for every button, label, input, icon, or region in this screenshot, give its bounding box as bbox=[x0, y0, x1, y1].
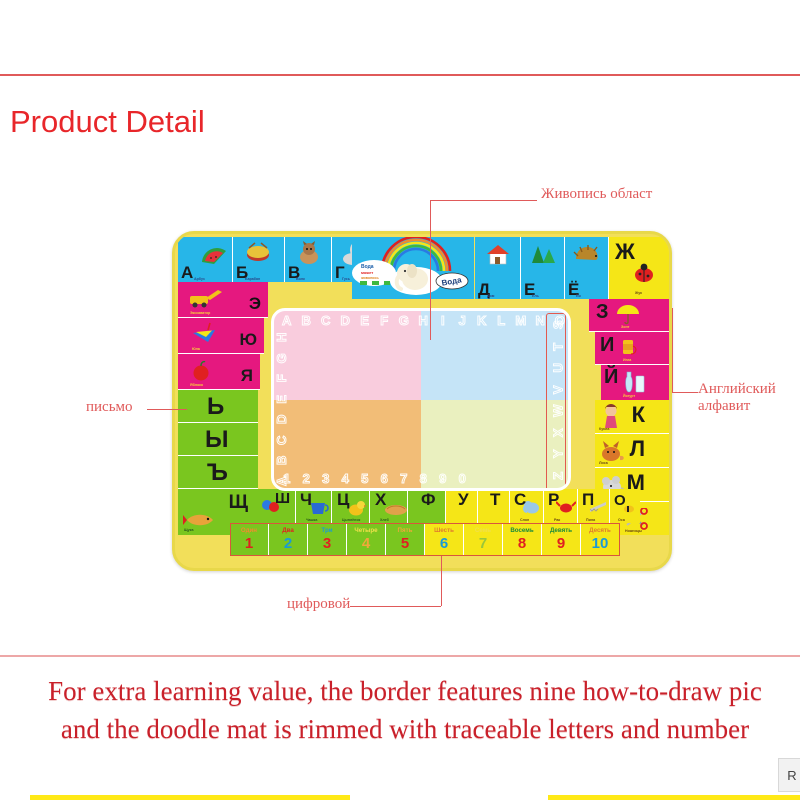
mat-letter: К bbox=[629, 404, 647, 427]
mat-cell-right-0: З Зонт bbox=[589, 299, 669, 332]
number-word: Два bbox=[282, 528, 294, 534]
mat-letter: О bbox=[611, 493, 628, 509]
mat-letter: Ю bbox=[236, 331, 259, 349]
trace-left-3: E bbox=[272, 394, 293, 404]
number-digit: 4 bbox=[362, 536, 370, 551]
mat-cell-bottom-6: Т bbox=[478, 489, 510, 523]
fir-tree-icon bbox=[529, 242, 557, 266]
mat-letter: Ж bbox=[609, 241, 637, 264]
number-word: Восемь bbox=[510, 528, 533, 534]
rainbow-svg: Вода может живопись Вода bbox=[352, 237, 474, 299]
mat-letter: Р bbox=[545, 491, 561, 509]
mat-caption: Дом bbox=[487, 294, 494, 298]
traceable-letters-left: HGFEDCBA bbox=[277, 314, 287, 491]
number-digit: 2 bbox=[284, 536, 292, 551]
leader-digital-vertical bbox=[441, 556, 442, 606]
mat-caption: Волк bbox=[296, 277, 305, 281]
annotation-painting-area: Живопись област bbox=[541, 186, 652, 203]
mat-letter: И bbox=[597, 335, 616, 356]
mat-cell-bottom-3: Х Хлеб bbox=[370, 489, 408, 523]
mat-caption: Слон bbox=[520, 518, 529, 522]
number-digit: 7 bbox=[479, 536, 487, 551]
bottom-divider bbox=[0, 655, 800, 657]
leader-english-horizontal bbox=[672, 392, 698, 393]
number-word: Шесть bbox=[434, 528, 454, 534]
apple-icon bbox=[190, 360, 212, 382]
number-cell-10: Десять10 bbox=[581, 523, 620, 556]
trace-left-1: G bbox=[272, 353, 293, 363]
mat-cell-left-4: Ы bbox=[178, 423, 258, 456]
bottom-image-strip-left bbox=[30, 795, 350, 800]
trace-left-4: D bbox=[272, 414, 293, 424]
mat-caption: Жук bbox=[635, 291, 642, 295]
mat-letter: З bbox=[593, 302, 611, 323]
trace-top-2: C bbox=[316, 314, 336, 327]
number-digit: 9 bbox=[557, 536, 565, 551]
hedgehog-icon bbox=[572, 242, 602, 264]
mat-caption: Ель bbox=[532, 294, 539, 298]
trace-right-7: Z bbox=[547, 469, 569, 481]
blurb-line-1: For extra learning value, the border fea… bbox=[48, 676, 762, 706]
mat-cell-top-7: Ж Жук bbox=[609, 237, 669, 299]
mat-cell-right-4: Л Лиса bbox=[595, 434, 669, 468]
trace-top-9: J bbox=[453, 314, 473, 327]
mat-letter: Ц bbox=[334, 491, 351, 509]
trace-bottom-8: 9 bbox=[433, 472, 453, 485]
mat-letter: А bbox=[178, 264, 195, 282]
mat-letter: Ы bbox=[202, 428, 231, 453]
svg-text:живопись: живопись bbox=[360, 276, 379, 280]
number-cell-3: Три3 bbox=[308, 523, 347, 556]
number-digit: 5 bbox=[401, 536, 409, 551]
number-word: Девять bbox=[550, 528, 572, 534]
mat-cell-left-0: Э Экскаватор bbox=[178, 282, 268, 318]
number-word: Три bbox=[321, 528, 332, 534]
mat-caption: Чашка bbox=[306, 518, 317, 522]
thread-spool-icon bbox=[617, 336, 639, 358]
pike-fish-icon bbox=[183, 511, 217, 529]
number-word: Пять bbox=[398, 528, 413, 534]
number-digit: 8 bbox=[518, 536, 526, 551]
elephant-rainbow-graphic: Вода может живопись Вода bbox=[352, 237, 474, 299]
page-title: Product Detail bbox=[10, 104, 205, 140]
mat-cell-top-0: А Арбуз bbox=[178, 237, 233, 282]
drum-icon bbox=[241, 241, 275, 263]
trace-top-12: M bbox=[511, 314, 531, 327]
number-digit: 6 bbox=[440, 536, 448, 551]
trace-top-6: G bbox=[394, 314, 414, 327]
leader-painting-horizontal bbox=[430, 200, 537, 201]
trace-left-2: F bbox=[272, 373, 293, 383]
trace-top-5: F bbox=[375, 314, 395, 327]
trace-right-1: T bbox=[547, 340, 569, 352]
mat-cell-top-6: Ё Ёж bbox=[565, 237, 609, 299]
bottom-image-strip-right bbox=[548, 795, 800, 800]
traceable-letters-right: STUVWXYZ bbox=[552, 314, 564, 491]
mat-caption: Пила bbox=[586, 518, 595, 522]
numbers-strip: Один1Два2Три3Четыре4Пять5Шесть6Семь7Восе… bbox=[230, 523, 620, 556]
mat-letter: Щ bbox=[226, 493, 250, 513]
excavator-icon bbox=[186, 286, 230, 308]
spinning-top-icon bbox=[188, 322, 220, 346]
watermelon-icon bbox=[200, 245, 228, 265]
fox-icon bbox=[599, 439, 625, 463]
number-cell-1: Один1 bbox=[230, 523, 269, 556]
mat-cell-bottom-7: С Слон bbox=[510, 489, 544, 523]
number-digit: 10 bbox=[592, 536, 609, 551]
number-word: Десять bbox=[589, 528, 611, 534]
mat-letter: П bbox=[579, 491, 596, 509]
mat-caption: Рак bbox=[554, 518, 560, 522]
mat-caption: Йогурт bbox=[623, 394, 635, 398]
trace-left-6: B bbox=[272, 455, 293, 465]
mat-letter: Ъ bbox=[204, 461, 230, 486]
annotation-english-line2: алфавит bbox=[698, 398, 750, 414]
traceable-letters-top: ABCDEFGHIJKLMNOPQR bbox=[277, 314, 571, 327]
trace-left-7: A bbox=[272, 476, 293, 486]
number-digit: 1 bbox=[245, 536, 253, 551]
annotation-writing: письмо bbox=[86, 399, 133, 416]
mat-cell-bottom-5: У bbox=[446, 489, 478, 523]
mat-cell-bottom-4: Ф bbox=[408, 489, 446, 523]
trace-right-6: Y bbox=[547, 448, 569, 460]
number-cell-4: Четыре4 bbox=[347, 523, 386, 556]
leader-english-vertical bbox=[672, 308, 673, 393]
bottle-icon bbox=[619, 368, 649, 394]
trace-bottom-1: 2 bbox=[297, 472, 317, 485]
mat-cell-left-5: Ъ bbox=[178, 456, 258, 489]
mat-cell-top-4: Д Дом bbox=[475, 237, 521, 299]
trace-bottom-7: 8 bbox=[414, 472, 434, 485]
mat-cell-right-3: К Кукла bbox=[595, 400, 669, 434]
trace-right-4: W bbox=[547, 405, 569, 417]
annotation-english-line1: Английский bbox=[698, 381, 776, 397]
trace-right-3: V bbox=[547, 383, 569, 395]
leader-writing bbox=[147, 409, 187, 410]
mat-letter: Э bbox=[246, 295, 263, 313]
mat-body: А Арбуз Б Барабан В Волк bbox=[172, 231, 672, 571]
wolf-icon bbox=[295, 241, 323, 265]
mat-caption: Арбуз bbox=[194, 277, 205, 281]
corner-r-box[interactable]: R bbox=[778, 758, 800, 792]
trace-top-15: P bbox=[570, 314, 572, 327]
mat-letter: Т bbox=[487, 491, 502, 509]
mat-cell-right-1: И Игла bbox=[595, 332, 669, 365]
trace-top-8: I bbox=[433, 314, 453, 327]
number-cell-7: Семь7 bbox=[464, 523, 503, 556]
mat-letter: У bbox=[455, 491, 471, 509]
mat-caption: Яблоко bbox=[190, 383, 203, 387]
top-divider bbox=[0, 74, 800, 76]
number-cell-2: Два2 bbox=[269, 523, 308, 556]
mat-letter: Ь bbox=[204, 395, 226, 420]
product-blurb: For extra learning value, the border fea… bbox=[0, 672, 800, 749]
mat-cell-top-2: В Волк bbox=[285, 237, 332, 282]
number-cell-9: Девять9 bbox=[542, 523, 581, 556]
annotation-english-alphabet: Английский алфавит bbox=[698, 381, 776, 416]
mat-cell-left-2: Я Яблоко bbox=[178, 354, 260, 390]
number-cell-8: Восемь8 bbox=[503, 523, 542, 556]
mat-caption: Оса bbox=[618, 518, 625, 522]
leader-digital-horizontal bbox=[350, 606, 441, 607]
mat-caption: Юла bbox=[192, 347, 200, 351]
number-word: Один bbox=[241, 528, 257, 534]
number-digit: 3 bbox=[323, 536, 331, 551]
mat-cell-top-1: Б Барабан bbox=[233, 237, 285, 282]
number-word: Семь bbox=[475, 528, 491, 534]
trace-left-0: H bbox=[272, 332, 293, 342]
mat-cell-bottom-8: Р Рак bbox=[544, 489, 578, 523]
mat-caption: Кукла bbox=[599, 427, 609, 431]
trace-bottom-6: 7 bbox=[394, 472, 414, 485]
mat-letter: Й bbox=[601, 367, 620, 388]
trace-right-0: S bbox=[547, 319, 569, 331]
mat-cell-top-5: Е Ель bbox=[521, 237, 565, 299]
mat-caption: Зонт bbox=[621, 325, 629, 329]
mat-cell-bottom-1: Ч Чашка bbox=[296, 489, 332, 523]
trace-bottom-9: 0 bbox=[453, 472, 473, 485]
mat-caption: Цыплёнок bbox=[342, 518, 360, 522]
mat-letter: Х bbox=[372, 491, 388, 509]
trace-right-2: U bbox=[547, 362, 569, 374]
mat-caption: Лиса bbox=[599, 461, 608, 465]
mat-cell-bottom-9: П Пила bbox=[578, 489, 610, 523]
mat-letter: С bbox=[511, 491, 528, 509]
trace-left-5: C bbox=[272, 435, 293, 445]
mat-caption: Гусь bbox=[342, 277, 350, 281]
mat-cell-bottom-0: Ш bbox=[258, 489, 296, 523]
trace-top-10: K bbox=[472, 314, 492, 327]
trace-bottom-5: 6 bbox=[375, 472, 395, 485]
mat-letter: Л bbox=[627, 438, 647, 461]
mat-cell-left-3: Ь bbox=[178, 390, 258, 423]
leader-painting-vertical bbox=[430, 200, 431, 340]
trace-top-4: E bbox=[355, 314, 375, 327]
trace-top-11: L bbox=[492, 314, 512, 327]
mat-caption: Ножницы bbox=[625, 529, 642, 533]
trace-bottom-2: 3 bbox=[316, 472, 336, 485]
mat-cell-bottom-10: О Оса bbox=[610, 489, 640, 523]
trace-right-5: X bbox=[547, 426, 569, 438]
trace-top-3: D bbox=[336, 314, 356, 327]
blurb-line-2: and the doodle mat is rimmed with tracea… bbox=[0, 710, 800, 748]
mat-caption: Щука bbox=[184, 528, 193, 532]
mat-caption: Ёж bbox=[576, 294, 581, 298]
drawing-area[interactable]: ABCDEFGHIJKLMNOPQR 1234567890 HGFEDCBA S… bbox=[271, 308, 571, 491]
mat-caption: Игла bbox=[623, 358, 631, 362]
beetle-icon bbox=[631, 263, 657, 283]
mat-cell-left-1: Ю Юла bbox=[178, 318, 264, 354]
umbrella-icon bbox=[615, 303, 641, 325]
mat-letter: Ф bbox=[418, 491, 438, 509]
traceable-digits-bottom: 1234567890 bbox=[277, 472, 472, 485]
trace-bottom-3: 4 bbox=[336, 472, 356, 485]
house-icon bbox=[484, 242, 512, 266]
trace-top-1: B bbox=[297, 314, 317, 327]
mat-cell-right-2: Й Йогурт bbox=[601, 365, 669, 400]
number-cell-6: Шесть6 bbox=[425, 523, 464, 556]
mat-cell-bottom-2: Ц Цыплёнок bbox=[332, 489, 370, 523]
number-word: Четыре bbox=[354, 528, 377, 534]
mat-caption: Барабан bbox=[245, 277, 260, 281]
mat-letter: Я bbox=[238, 367, 255, 385]
annotation-digital: цифровой bbox=[287, 596, 350, 613]
mat-caption: Экскаватор bbox=[190, 311, 210, 315]
number-cell-5: Пять5 bbox=[386, 523, 425, 556]
trace-bottom-4: 5 bbox=[355, 472, 375, 485]
product-mat: А Арбуз Б Барабан В Волк bbox=[172, 231, 672, 571]
mat-letter: Ш bbox=[272, 491, 292, 507]
svg-text:может: может bbox=[361, 270, 373, 275]
mat-letter: Ч bbox=[297, 491, 314, 509]
mat-caption: Хлеб bbox=[380, 518, 389, 522]
